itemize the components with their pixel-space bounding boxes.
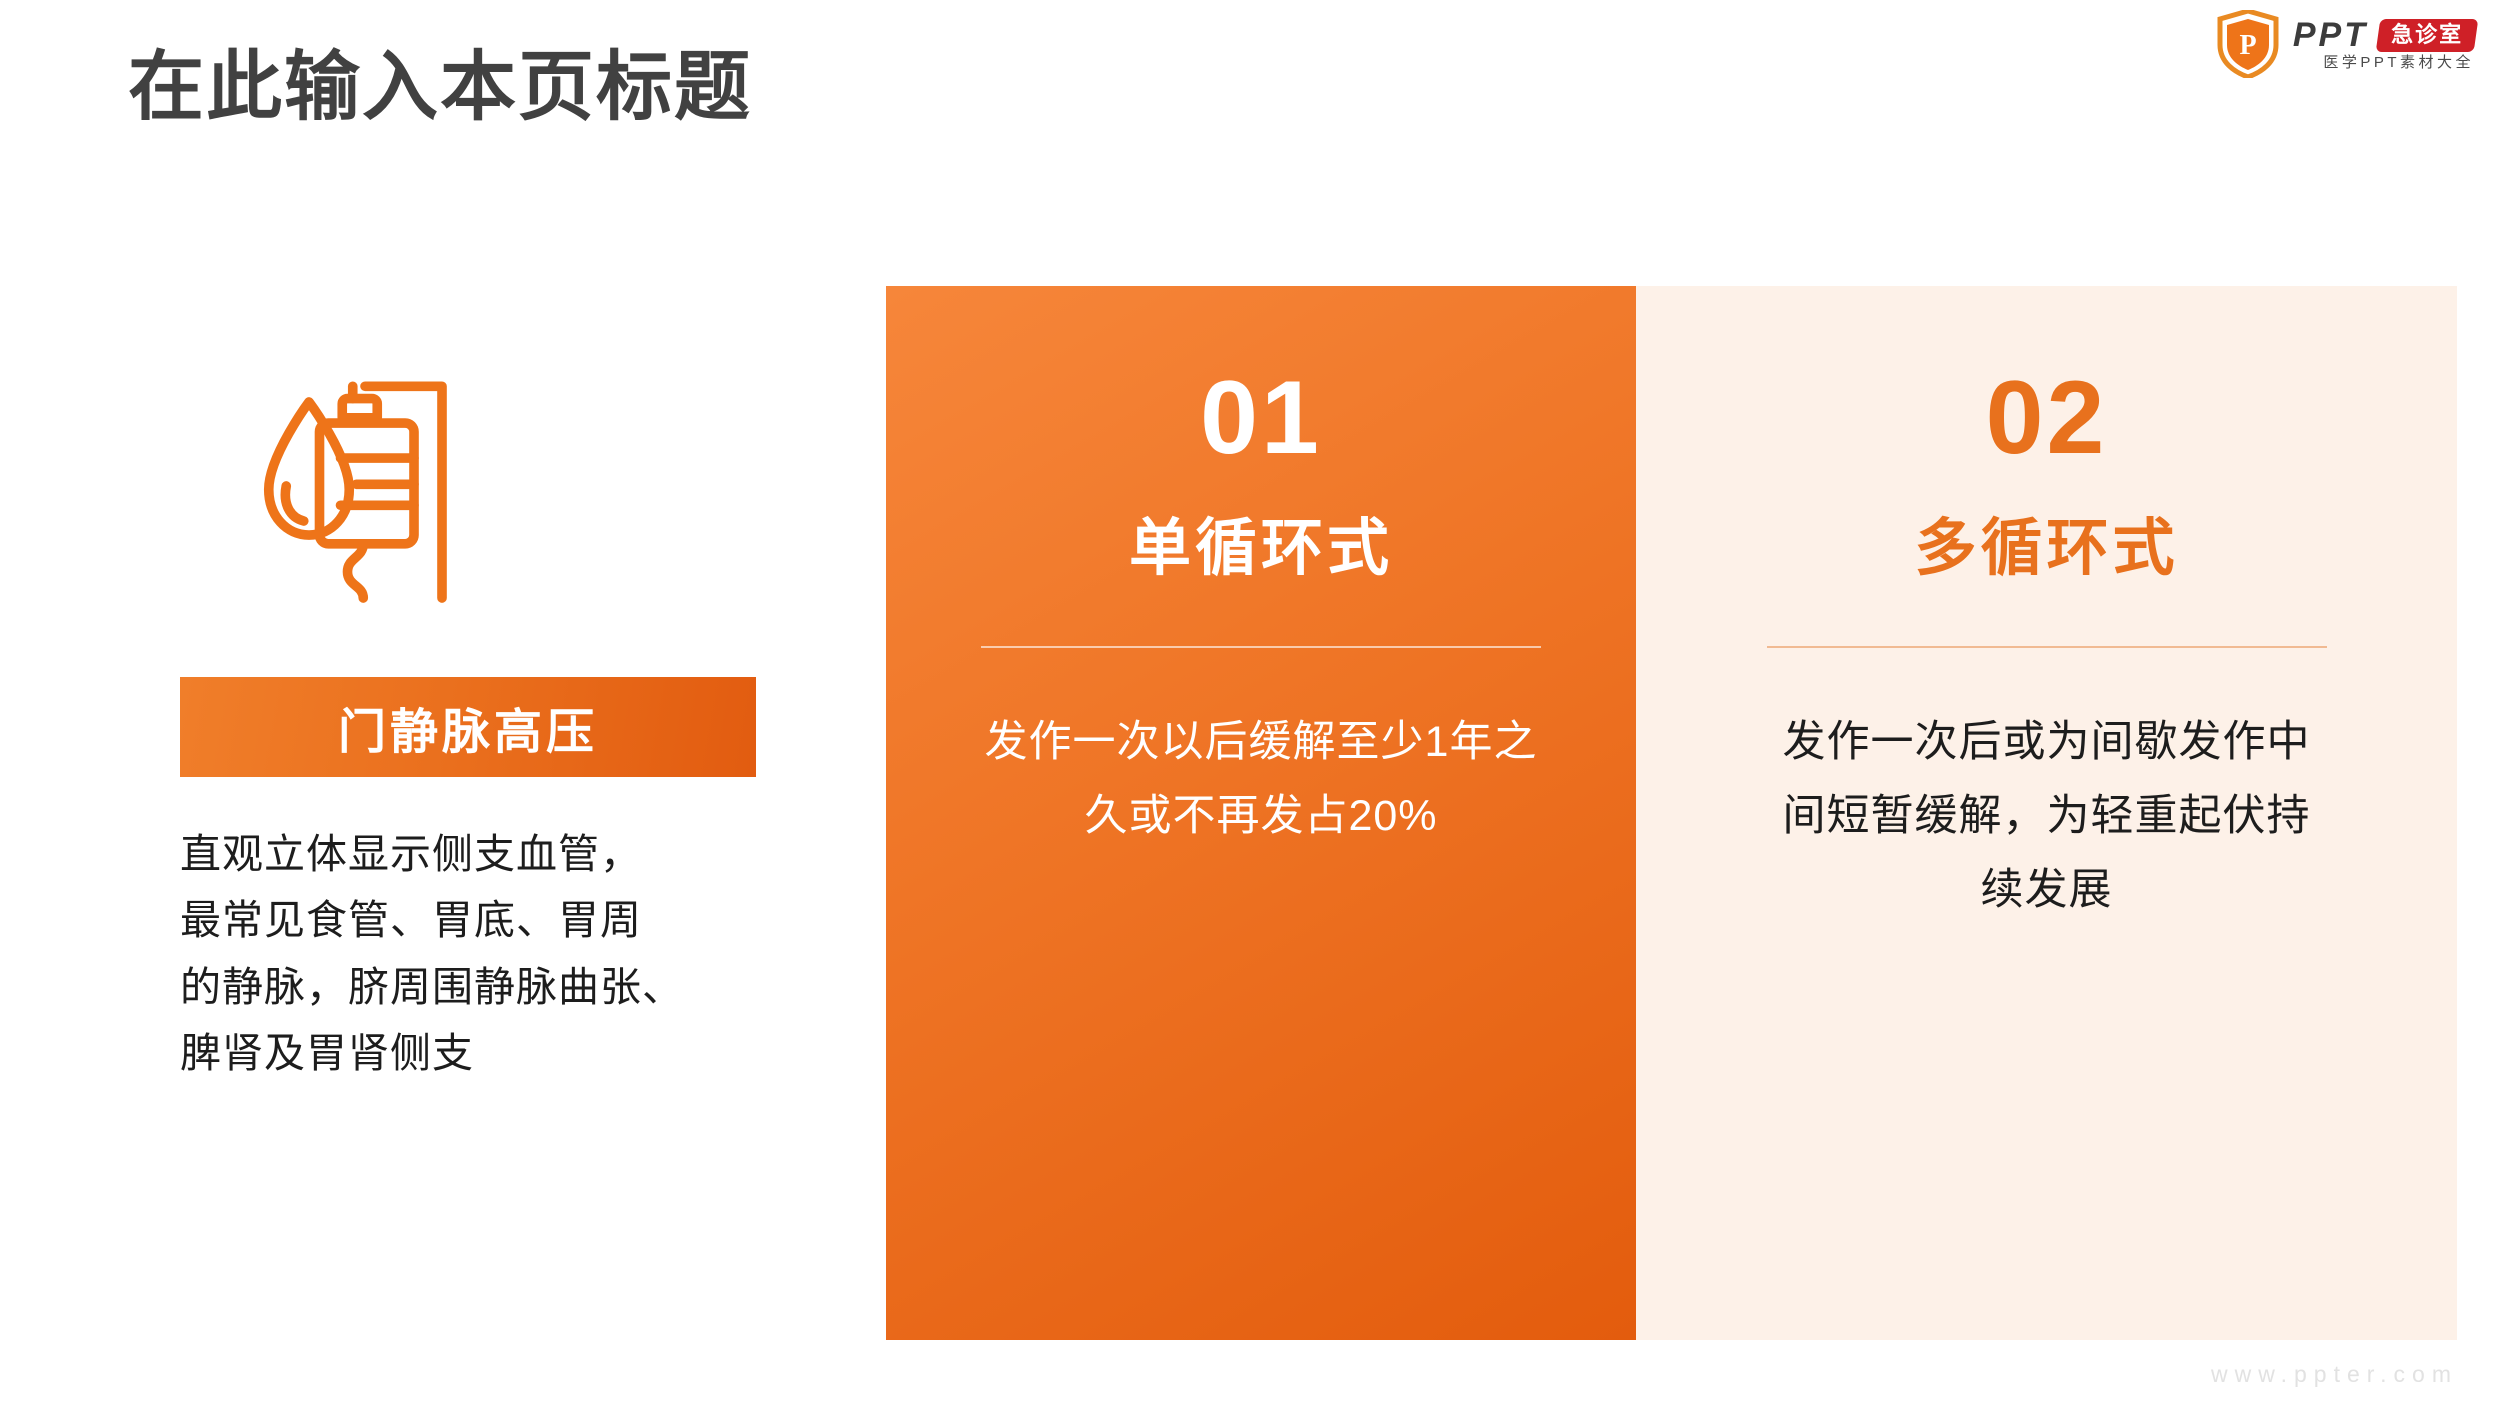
card-01-body: 发作一次以后缓解至少1年之久或不再发占20% xyxy=(981,706,1541,854)
left-body-line-4: 脾肾及胃肾侧支 xyxy=(180,1020,780,1086)
card-02-divider xyxy=(1767,646,2327,648)
card-01-heading: 单循环式 xyxy=(1129,518,1393,580)
card-02-body: 发作一次后或为间歇发作中间短暂缓解，为轻重起伏持续发展 xyxy=(1767,706,2327,928)
brand-logo: P PPT 急诊室 医学PPT素材大全 xyxy=(2217,10,2476,78)
left-body-text: 直观立体显示侧支血管， 最常见食管、胃底、胃周 的静脉，脐周围静脉曲张、 脾肾及… xyxy=(180,821,780,1087)
cards-container: 01 单循环式 发作一次以后缓解至少1年之久或不再发占20% 02 多循环式 发… xyxy=(886,286,2457,1340)
page-title: 在此输入本页标题 xyxy=(128,46,752,130)
card-02-number: 02 xyxy=(1986,366,2108,470)
logo-badge: 急诊室 xyxy=(2376,19,2479,52)
logo-subtitle: 医学PPT素材大全 xyxy=(2293,55,2476,70)
left-body-line-1: 直观立体显示侧支血管， xyxy=(180,821,780,887)
iv-drip-blood-drop-icon xyxy=(260,360,470,605)
status-badge: 门静脉高压 xyxy=(180,677,756,777)
card-02[interactable]: 02 多循环式 发作一次后或为间歇发作中间短暂缓解，为轻重起伏持续发展 xyxy=(1636,286,2457,1340)
logo-badge-label: 急诊室 xyxy=(2391,24,2463,46)
logo-text-block: PPT 急诊室 医学PPT素材大全 xyxy=(2293,18,2476,70)
footer-watermark: www.ppter.com xyxy=(2211,1361,2458,1388)
left-column: 门静脉高压 直观立体显示侧支血管， 最常见食管、胃底、胃周 的静脉，脐周围静脉曲… xyxy=(180,360,820,1087)
slide-root: 在此输入本页标题 P PPT 急诊室 医学PPT素材大全 xyxy=(0,0,2500,1406)
card-01-number: 01 xyxy=(1200,366,1322,470)
card-02-heading: 多循环式 xyxy=(1914,518,2178,580)
shield-logo-icon: P xyxy=(2217,10,2279,78)
card-01[interactable]: 01 单循环式 发作一次以后缓解至少1年之久或不再发占20% xyxy=(886,286,1636,1340)
left-body-line-2: 最常见食管、胃底、胃周 xyxy=(180,887,780,953)
logo-brand-text: PPT xyxy=(2293,18,2368,52)
svg-text:P: P xyxy=(2239,30,2256,61)
left-body-line-3: 的静脉，脐周围静脉曲张、 xyxy=(180,954,780,1020)
status-badge-label: 门静脉高压 xyxy=(338,692,598,762)
card-01-divider xyxy=(981,646,1541,648)
